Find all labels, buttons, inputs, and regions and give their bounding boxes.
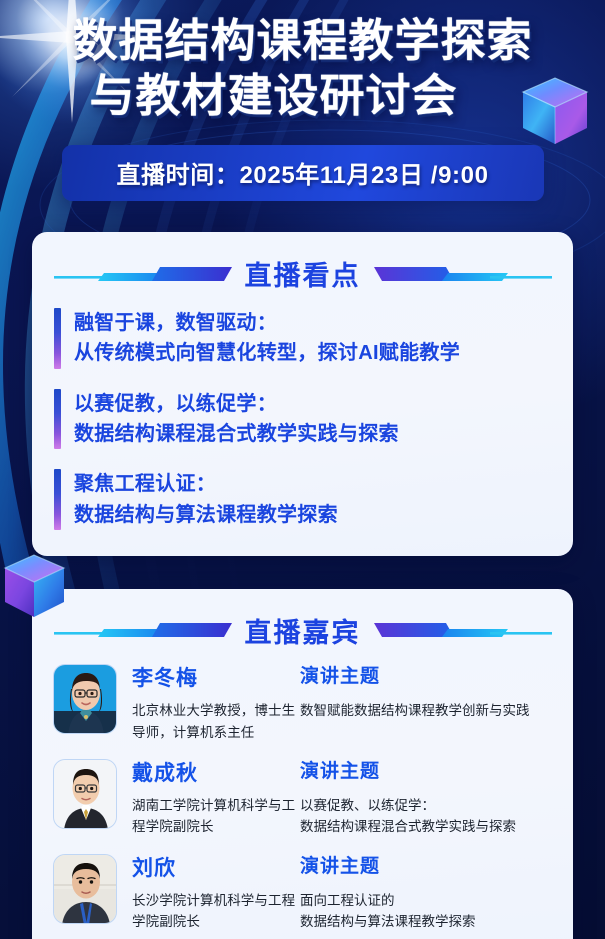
gradient-cube-icon xyxy=(519,74,591,148)
guests-list: 李冬梅 北京林业大学教授，博士生 导师，计算机系主任 演讲主题 数智赋能数据结构… xyxy=(32,664,573,933)
highlight-item: 融智于课，数智驱动： 从传统模式向智慧化转型，探讨AI赋能教学 xyxy=(54,308,549,369)
guests-card: 直播嘉宾 xyxy=(32,589,573,939)
guest-desc-line-1: 北京林业大学教授，博士生 xyxy=(132,703,295,718)
guest-desc-line-2: 学院副院长 xyxy=(132,911,300,932)
guests-section-heading: 直播嘉宾 xyxy=(32,612,573,648)
guest-description: 长沙学院计算机科学与工程 学院副院长 xyxy=(132,890,300,933)
accent-bar xyxy=(54,308,61,369)
highlight-line-1: 聚焦工程认证： xyxy=(74,473,216,495)
highlight-line-2: 数据结构课程混合式教学实践与探索 xyxy=(74,419,399,449)
guest-topic: 演讲主题 面向工程认证的 数据结构与算法课程教学探索 xyxy=(300,854,551,932)
guest-description: 湖南工学院计算机科学与工 程学院副院长 xyxy=(132,795,300,838)
highlights-card: 直播看点 xyxy=(32,232,573,556)
topic-line-1: 以赛促教、以练促学： xyxy=(300,798,435,813)
topic-line-1: 面向工程认证的 xyxy=(300,893,395,908)
guest-topic: 演讲主题 以赛促教、以练促学： 数据结构课程混合式教学实践与探索 xyxy=(300,759,551,837)
topic-text: 面向工程认证的 数据结构与算法课程教学探索 xyxy=(300,890,551,933)
topic-text: 数智赋能数据结构课程教学创新与实践 xyxy=(300,700,551,721)
avatar-li-dongmei xyxy=(54,665,117,734)
ribbon-right-decoration xyxy=(374,618,552,642)
highlight-item: 以赛促教，以练促学： 数据结构课程混合式教学实践与探索 xyxy=(54,389,549,450)
live-time-text: 直播时间：2025年11月23日 /9:00 xyxy=(116,155,488,190)
guest-info: 戴成秋 湖南工学院计算机科学与工 程学院副院长 xyxy=(132,759,300,838)
guest-name: 刘欣 xyxy=(132,856,300,881)
avatar xyxy=(53,759,117,829)
highlight-text: 融智于课，数智驱动： 从传统模式向智慧化转型，探讨AI赋能教学 xyxy=(74,308,460,369)
topic-label: 演讲主题 xyxy=(300,761,551,784)
guest-description: 北京林业大学教授，博士生 导师，计算机系主任 xyxy=(132,700,300,743)
avatar xyxy=(53,854,117,924)
highlights-list: 融智于课，数智驱动： 从传统模式向智慧化转型，探讨AI赋能教学 以赛促教，以练促… xyxy=(32,308,573,530)
guests-section-title: 直播嘉宾 xyxy=(245,611,361,650)
topic-line-2: 数据结构课程混合式教学实践与探索 xyxy=(300,816,551,837)
ribbon-right-decoration xyxy=(374,262,552,286)
ribbon-left-decoration xyxy=(54,262,232,286)
topic-line-1: 数智赋能数据结构课程教学创新与实践 xyxy=(300,703,530,718)
highlight-line-1: 融智于课，数智驱动： xyxy=(74,312,277,334)
avatar xyxy=(53,664,117,734)
guest-desc-line-2: 程学院副院长 xyxy=(132,816,300,837)
guest-name: 李冬梅 xyxy=(132,666,300,691)
guest-topic: 演讲主题 数智赋能数据结构课程教学创新与实践 xyxy=(300,664,551,721)
accent-bar xyxy=(54,469,61,530)
poster-header: 数据结构课程教学探索 与教材建设研讨会 xyxy=(0,0,605,124)
topic-label: 演讲主题 xyxy=(300,856,551,879)
topic-label: 演讲主题 xyxy=(300,666,551,689)
accent-bar xyxy=(54,389,61,450)
title-line-2: 与教材建设研讨会 xyxy=(18,69,587,124)
highlight-text: 聚焦工程认证： 数据结构与算法课程教学探索 xyxy=(74,469,338,530)
guest-info: 李冬梅 北京林业大学教授，博士生 导师，计算机系主任 xyxy=(132,664,300,743)
gradient-cube-icon xyxy=(2,552,68,620)
highlight-text: 以赛促教，以练促学： 数据结构课程混合式教学实践与探索 xyxy=(74,389,399,450)
avatar-liu-xin xyxy=(54,855,117,924)
guest-desc-line-1: 长沙学院计算机科学与工程 xyxy=(132,893,295,908)
highlight-line-2: 从传统模式向智慧化转型，探讨AI赋能教学 xyxy=(74,338,460,368)
guest-name: 戴成秋 xyxy=(132,761,300,786)
guest-info: 刘欣 长沙学院计算机科学与工程 学院副院长 xyxy=(132,854,300,933)
topic-line-2: 数据结构与算法课程教学探索 xyxy=(300,911,551,932)
topic-text: 以赛促教、以练促学： 数据结构课程混合式教学实践与探索 xyxy=(300,795,551,838)
highlights-section-heading: 直播看点 xyxy=(32,256,573,292)
highlight-line-2: 数据结构与算法课程教学探索 xyxy=(74,500,338,530)
list-item: 李冬梅 北京林业大学教授，博士生 导师，计算机系主任 演讲主题 数智赋能数据结构… xyxy=(53,664,551,743)
list-item: 刘欣 长沙学院计算机科学与工程 学院副院长 演讲主题 面向工程认证的 数据结构与… xyxy=(53,854,551,933)
highlight-item: 聚焦工程认证： 数据结构与算法课程教学探索 xyxy=(54,469,549,530)
highlight-line-1: 以赛促教，以练促学： xyxy=(74,393,277,415)
list-item: 戴成秋 湖南工学院计算机科学与工 程学院副院长 演讲主题 以赛促教、以练促学： … xyxy=(53,759,551,838)
guest-desc-line-2: 导师，计算机系主任 xyxy=(132,722,300,743)
ribbon-left-decoration xyxy=(54,618,232,642)
avatar-dai-chengqiu xyxy=(54,760,117,829)
webinar-poster: 数据结构课程教学探索 与教材建设研讨会 xyxy=(0,0,605,939)
guest-desc-line-1: 湖南工学院计算机科学与工 xyxy=(132,798,295,813)
highlights-section-title: 直播看点 xyxy=(245,254,361,293)
title-line-1: 数据结构课程教学探索 xyxy=(18,14,587,69)
page-title: 数据结构课程教学探索 与教材建设研讨会 xyxy=(0,14,605,124)
live-time-banner: 直播时间：2025年11月23日 /9:00 xyxy=(62,145,544,201)
